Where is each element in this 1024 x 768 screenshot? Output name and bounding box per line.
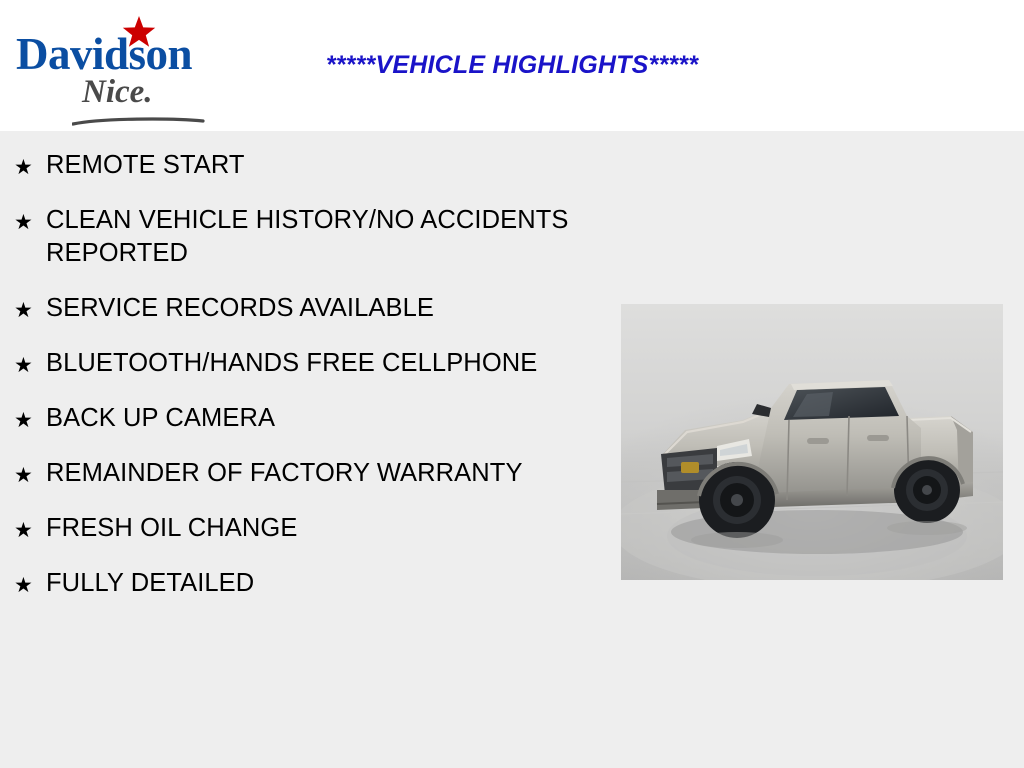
list-item-label: BLUETOOTH/HANDS FREE CELLPHONE [46,349,537,377]
list-item-label: REMAINDER OF FACTORY WARRANTY [46,459,523,487]
star-bullet-icon: ★ [14,349,33,382]
page-title: *****VEHICLE HIGHLIGHTS***** [0,51,1024,79]
list-item-label: SERVICE RECORDS AVAILABLE [46,294,434,322]
list-item: ★ FULLY DETAILED [0,567,610,600]
list-item-label: FULLY DETAILED [46,569,254,597]
dealer-logo-tagline: Nice. [82,76,153,109]
page-header: Davidson Nice. *****VEHICLE HIGHLIGHTS**… [0,0,1024,131]
vehicle-photo [621,304,1003,580]
star-bullet-icon: ★ [14,459,33,492]
star-bullet-icon: ★ [14,569,33,602]
list-item-label: CLEAN VEHICLE HISTORY/NO ACCIDENTS REPOR… [46,206,569,267]
list-item: ★ SERVICE RECORDS AVAILABLE [0,292,610,325]
star-bullet-icon: ★ [14,404,33,437]
star-bullet-icon: ★ [14,151,33,184]
list-item: ★ BLUETOOTH/HANDS FREE CELLPHONE [0,347,610,380]
star-bullet-icon: ★ [14,206,33,239]
list-item: ★ BACK UP CAMERA [0,402,610,435]
logo-underline-swoosh [72,114,205,124]
star-bullet-icon: ★ [14,294,33,327]
list-item-label: REMOTE START [46,151,245,179]
list-item: ★ REMAINDER OF FACTORY WARRANTY [0,457,610,490]
list-item-label: FRESH OIL CHANGE [46,514,297,542]
vehicle-highlights-list: ★ REMOTE START ★ CLEAN VEHICLE HISTORY/N… [0,131,610,622]
list-item-label: BACK UP CAMERA [46,404,275,432]
list-item: ★ REMOTE START [0,149,610,182]
star-bullet-icon: ★ [14,514,33,547]
vehicle-highlights-page: Davidson Nice. *****VEHICLE HIGHLIGHTS**… [0,0,1024,768]
list-item: ★ CLEAN VEHICLE HISTORY/NO ACCIDENTS REP… [0,204,610,270]
list-item: ★ FRESH OIL CHANGE [0,512,610,545]
